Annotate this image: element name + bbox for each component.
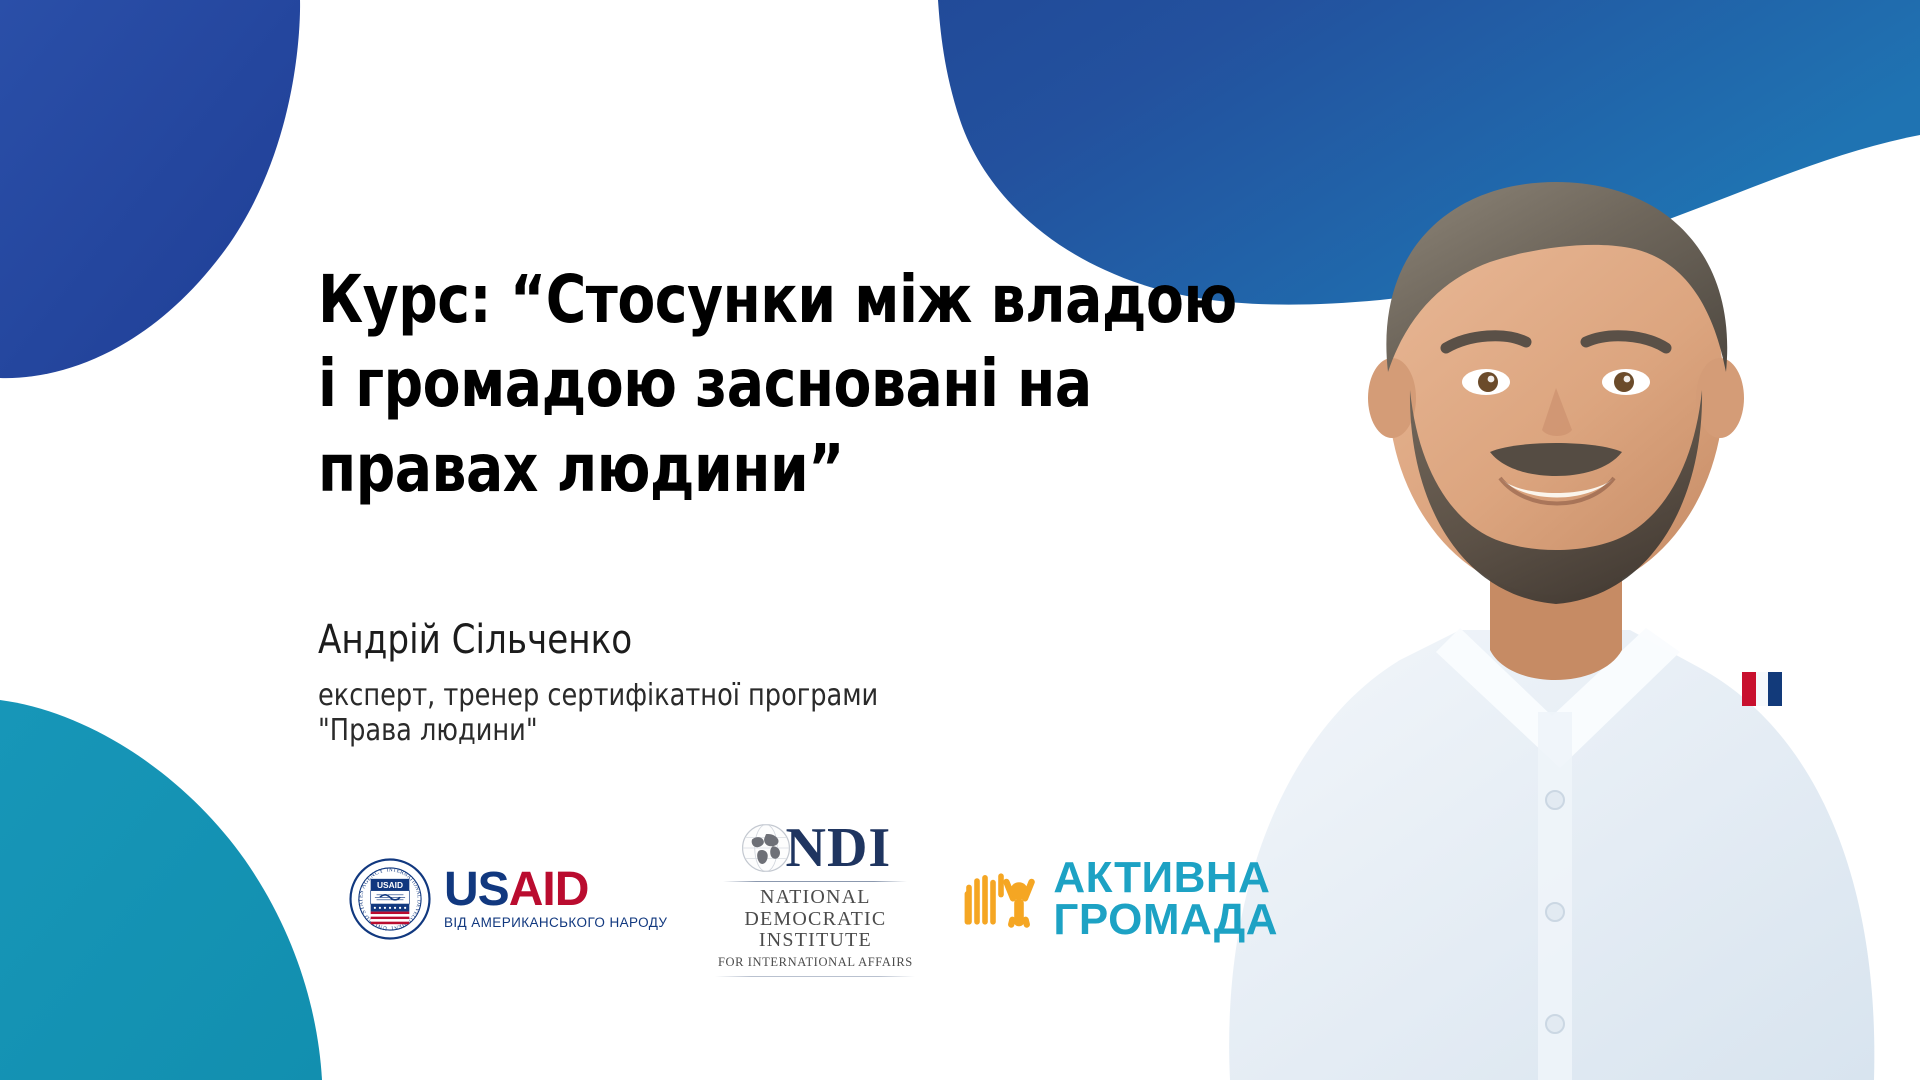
active-community-people-icon: [963, 867, 1043, 931]
shape-blob-bottom-left: [0, 700, 322, 1080]
svg-text:USAID: USAID: [377, 880, 403, 890]
logo-active-community: АКТИВНА ГРОМАДА: [963, 857, 1278, 941]
usaid-tagline: ВІД АМЕРИКАНСЬКОГО НАРОДУ: [444, 915, 667, 930]
shape-blob-top-left: [0, 0, 300, 378]
ndi-subtitle-line1: NATIONAL: [760, 887, 871, 909]
usaid-wordmark-us: US: [444, 863, 509, 916]
usaid-seal-icon: UNITED STATES AGENCY INTERNATIONAL DEVEL…: [348, 857, 432, 941]
speaker-name: Андрій Сільченко: [318, 618, 632, 662]
ndi-wordmark: NDI: [786, 820, 892, 876]
usaid-wordmark: USAID ВІД АМЕРИКАНСЬКОГО НАРОДУ: [444, 868, 667, 930]
speaker-role: експерт, тренер сертифікатної програми "…: [318, 678, 1040, 749]
ndi-divider-bottom: [715, 976, 915, 977]
logo-usaid: UNITED STATES AGENCY INTERNATIONAL DEVEL…: [348, 857, 667, 941]
presentation-slide: Курс: “Стосунки між владою і громадою за…: [0, 0, 1920, 1080]
ndi-subtitle-line3: INSTITUTE: [759, 930, 872, 952]
slide-content: Курс: “Стосунки між владою і громадою за…: [318, 0, 1378, 1080]
active-community-line2: ГРОМАДА: [1053, 899, 1278, 941]
partner-logos: UNITED STATES AGENCY INTERNATIONAL DEVEL…: [348, 820, 1278, 979]
ndi-divider: [723, 881, 907, 882]
page-title: Курс: “Стосунки між владою і громадою за…: [318, 258, 1267, 511]
active-community-line1: АКТИВНА: [1053, 857, 1278, 899]
usaid-wordmark-aid: AID: [509, 863, 589, 916]
ndi-subtitle-line2: DEMOCRATIC: [744, 909, 886, 931]
ndi-globe-icon: [740, 822, 792, 874]
logo-ndi: NDI NATIONAL DEMOCRATIC INSTITUTE FOR IN…: [715, 820, 915, 979]
ndi-subtitle-line4: FOR INTERNATIONAL AFFAIRS: [718, 955, 913, 970]
active-community-wordmark: АКТИВНА ГРОМАДА: [1053, 857, 1278, 941]
